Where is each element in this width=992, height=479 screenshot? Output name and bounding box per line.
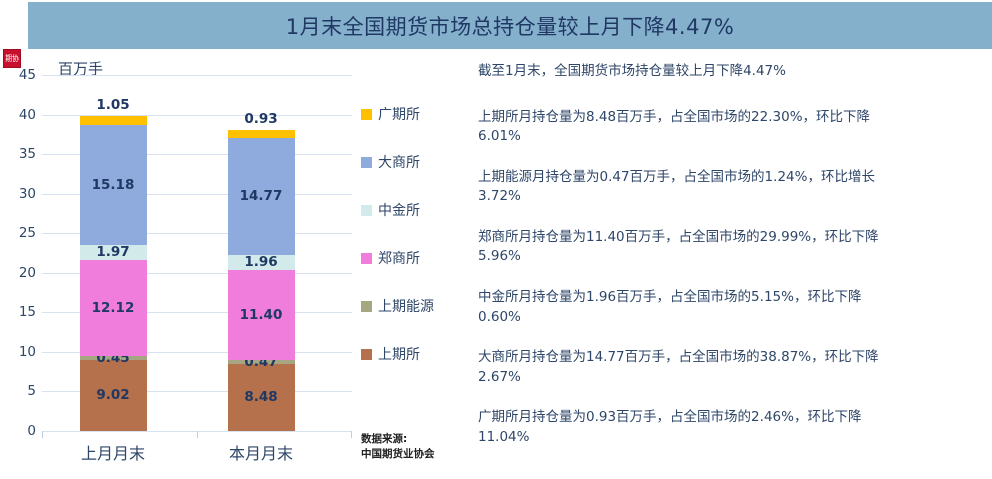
legend-item[interactable]: 上期能源: [361, 282, 471, 330]
data-source-note: 数据来源: 中国期货业协会: [361, 432, 435, 462]
y-axis-tick-label: 30: [2, 186, 36, 202]
y-axis-tick-label: 0: [2, 423, 36, 439]
legend-color-swatch: [361, 253, 372, 264]
bar-segment[interactable]: [80, 116, 147, 124]
chart-legend: 广期所大商所中金所郑商所上期能源上期所: [361, 90, 471, 378]
bar-segment[interactable]: 14.77: [228, 138, 295, 255]
commentary-line: 上期能源月持仓量为0.47百万手，占全国市场的1.24%，环比增长3.72%: [478, 168, 898, 207]
bar-value-label: 11.40: [240, 307, 283, 323]
legend-item[interactable]: 广期所: [361, 90, 471, 138]
legend-color-swatch: [361, 157, 372, 168]
x-axis-tick: [351, 431, 352, 438]
legend-label: 上期能源: [378, 296, 434, 316]
bar-segment[interactable]: 0.45: [80, 356, 147, 360]
legend-color-swatch: [361, 205, 372, 216]
bar-segment[interactable]: [228, 130, 295, 137]
bar-total-top-label: 0.93: [228, 111, 295, 127]
legend-label: 广期所: [378, 104, 420, 124]
legend-color-swatch: [361, 109, 372, 120]
legend-item[interactable]: 上期所: [361, 330, 471, 378]
x-axis-tick: [197, 431, 198, 438]
commentary-line: 广期所月持仓量为0.93百万手，占全国市场的2.46%，环比下降11.04%: [478, 408, 898, 447]
commentary-line: 上期所月持仓量为8.48百万手，占全国市场的22.30%，环比下降6.01%: [478, 108, 898, 147]
bar-value-label: 8.48: [244, 389, 277, 405]
y-axis-tick-label: 5: [2, 383, 36, 399]
bar-value-label: 1.97: [96, 244, 129, 260]
y-axis: 051015202530354045: [0, 75, 36, 431]
data-source-value: 中国期货业协会: [361, 447, 435, 462]
y-axis-tick-label: 10: [2, 344, 36, 360]
legend-color-swatch: [361, 349, 372, 360]
commentary-panel: 截至1月末，全国期货市场持仓量较上月下降4.47%上期所月持仓量为8.48百万手…: [478, 62, 898, 468]
bar-total-top-label: 1.05: [80, 97, 147, 113]
y-axis-tick-label: 45: [2, 67, 36, 83]
x-axis-tick: [42, 431, 43, 438]
stacked-bar-chart: 百万手 051015202530354045 1.05上月月末9.020.451…: [0, 55, 360, 479]
legend-item[interactable]: 中金所: [361, 186, 471, 234]
x-axis-category-label: 本月月末: [191, 440, 331, 464]
y-axis-tick-label: 40: [2, 107, 36, 123]
plot-area: 1.05上月月末9.020.4512.121.9715.180.93本月月末8.…: [42, 75, 352, 431]
bar-segment[interactable]: 9.02: [80, 360, 147, 431]
gridline: [42, 75, 352, 76]
bar-segment[interactable]: 1.96: [228, 255, 295, 271]
bar-segment[interactable]: 1.97: [80, 245, 147, 261]
legend-label: 大商所: [378, 152, 420, 172]
bar-stack[interactable]: 8.480.4711.401.9614.77: [228, 130, 295, 431]
bar-segment[interactable]: 0.47: [228, 360, 295, 364]
legend-color-swatch: [361, 301, 372, 312]
x-axis-category-label: 上月月末: [43, 440, 183, 464]
bar-segment[interactable]: 12.12: [80, 260, 147, 356]
bar-value-label: 1.96: [244, 254, 277, 270]
data-source-label: 数据来源:: [361, 432, 435, 447]
bar-segment[interactable]: 15.18: [80, 125, 147, 245]
y-axis-tick-label: 25: [2, 225, 36, 241]
legend-label: 上期所: [378, 344, 420, 364]
legend-item[interactable]: 大商所: [361, 138, 471, 186]
bar-value-label: 9.02: [96, 387, 129, 403]
commentary-line: 郑商所月持仓量为11.40百万手，占全国市场的29.99%，环比下降5.96%: [478, 228, 898, 267]
y-axis-tick-label: 35: [2, 146, 36, 162]
legend-label: 郑商所: [378, 248, 420, 268]
bar-value-label: 15.18: [92, 177, 135, 193]
page-title: 1月末全国期货市场总持仓量较上月下降4.47%: [286, 11, 735, 41]
commentary-line: 截至1月末，全国期货市场持仓量较上月下降4.47%: [478, 62, 898, 82]
legend-label: 中金所: [378, 200, 420, 220]
bar-segment[interactable]: 8.48: [228, 364, 295, 431]
legend-item[interactable]: 郑商所: [361, 234, 471, 282]
bar-stack[interactable]: 9.020.4512.121.9715.18: [80, 116, 147, 431]
commentary-line: 大商所月持仓量为14.77百万手，占全国市场的38.87%，环比下降2.67%: [478, 348, 898, 387]
bar-value-label: 12.12: [92, 300, 135, 316]
y-axis-tick-label: 20: [2, 265, 36, 281]
bar-segment[interactable]: 11.40: [228, 270, 295, 360]
commentary-line: 中金所月持仓量为1.96百万手，占全国市场的5.15%，环比下降0.60%: [478, 288, 898, 327]
y-axis-tick-label: 15: [2, 304, 36, 320]
bar-value-label: 14.77: [240, 188, 283, 204]
title-banner: 1月末全国期货市场总持仓量较上月下降4.47%: [28, 2, 992, 49]
